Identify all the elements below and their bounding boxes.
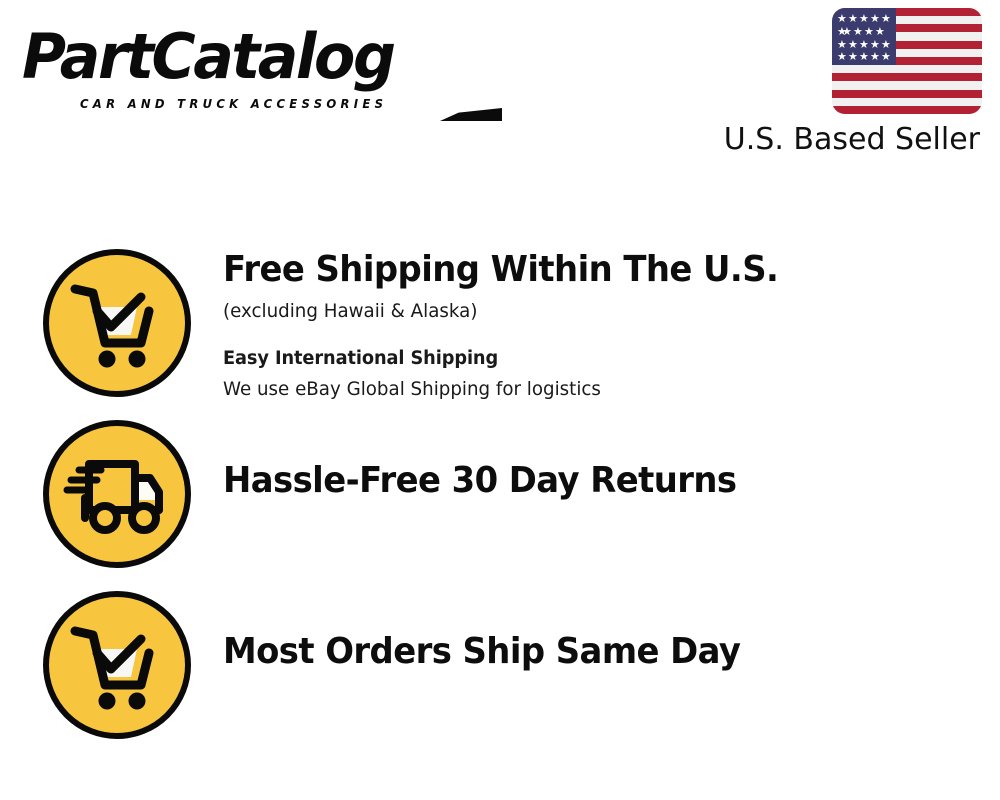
feature-note: (excluding Hawaii & Alaska) <box>223 296 933 326</box>
feature-row: Free Shipping Within The U.S. (excluding… <box>0 244 1000 404</box>
feature-text-block: Most Orders Ship Same Day <box>223 630 963 674</box>
us-based-seller-badge: ★ ★ ★ ★ ★ ★ ★ ★ ★ ★ ★ ★ ★ ★ ★ ★ ★ ★ ★ ★ … <box>710 8 988 158</box>
brand-tagline: CAR AND TRUCK ACCESSORIES <box>80 96 387 111</box>
seller-label: U.S. Based Seller <box>710 122 980 158</box>
delivery-truck-icon <box>43 420 191 568</box>
feature-row: Most Orders Ship Same Day <box>0 586 1000 746</box>
shopping-cart-check-icon <box>43 591 191 739</box>
feature-heading: Most Orders Ship Same Day <box>223 630 919 674</box>
feature-subheading: Easy International Shipping <box>223 344 933 374</box>
page-header: PartCatalog CAR AND TRUCK ACCESSORIES ★ … <box>0 0 1000 170</box>
shopping-cart-check-icon <box>43 249 191 397</box>
feature-heading: Free Shipping Within The U.S. <box>223 248 919 292</box>
feature-subtext: We use eBay Global Shipping for logistic… <box>223 374 933 404</box>
us-flag-icon: ★ ★ ★ ★ ★ ★ ★ ★ ★ ★ ★ ★ ★ ★ ★ ★ ★ ★ ★ ★ <box>832 8 982 114</box>
feature-text-block: Free Shipping Within The U.S. (excluding… <box>223 248 963 404</box>
feature-row: Hassle-Free 30 Day Returns <box>0 415 1000 575</box>
feature-text-block: Hassle-Free 30 Day Returns <box>223 459 963 503</box>
logo-swoosh-decoration <box>440 108 502 121</box>
brand-wordmark: PartCatalog <box>22 24 478 90</box>
brand-logo[interactable]: PartCatalog CAR AND TRUCK ACCESSORIES <box>22 24 492 119</box>
feature-heading: Hassle-Free 30 Day Returns <box>223 459 919 503</box>
